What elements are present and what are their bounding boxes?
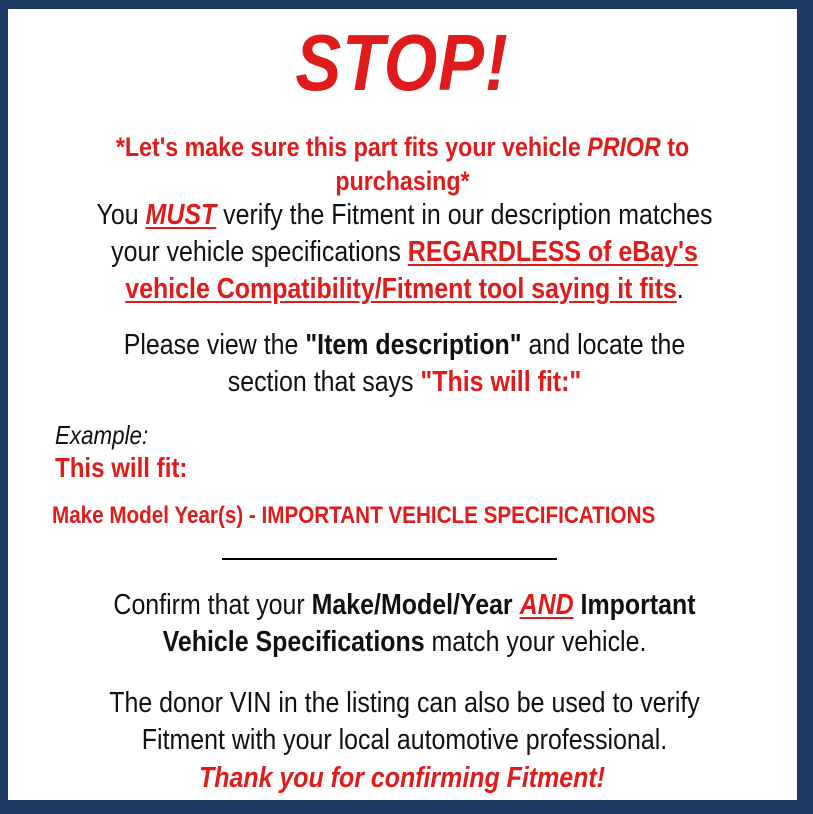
example-block: Example: This will fit: (55, 420, 209, 485)
subtitle-inner: *Let's make sure this part fits your veh… (72, 130, 733, 198)
notice-outer-frame: STOP! *Let's make sure this part fits yo… (0, 0, 813, 814)
donor-vin-text: The donor VIN in the listing can also be… (82, 685, 726, 759)
confirm-seg5: match your vehicle. (425, 626, 647, 658)
notice-content-panel: STOP! *Let's make sure this part fits yo… (8, 9, 797, 800)
thank-you-text: Thank you for confirming Fitment! (200, 760, 606, 796)
must-verify-paragraph: You MUST verify the Fitment in our descr… (30, 197, 779, 308)
confirm-seg1: Confirm that your (113, 589, 311, 621)
must-paragraph-seg1: You (97, 199, 146, 231)
subtitle-line: *Let's make sure this part fits your veh… (18, 130, 787, 198)
example-this-will-fit: This will fit: (55, 451, 187, 485)
and-emphasis: AND (520, 589, 574, 621)
subtitle-before-text: *Let's make sure this part fits your veh… (116, 132, 587, 162)
item-description-inner: Please view the "Item description" and l… (82, 327, 726, 401)
must-emphasis: MUST (146, 199, 217, 231)
example-spec-wrap: Make Model Year(s) - IMPORTANT VEHICLE S… (52, 501, 753, 531)
thank-you-line: Thank you for confirming Fitment! (8, 760, 797, 796)
item-description-emphasis: "Item description" (305, 329, 521, 361)
example-label: Example: (55, 420, 148, 450)
subtitle-prior-emphasis: PRIOR (587, 132, 661, 162)
example-fits-wrap: This will fit: (55, 451, 209, 485)
item-description-paragraph: Please view the "Item description" and l… (30, 327, 779, 401)
stop-headline: STOP! (8, 17, 797, 109)
donor-vin-paragraph: The donor VIN in the listing can also be… (30, 685, 779, 759)
stop-headline-text: STOP! (296, 17, 509, 109)
must-paragraph-period: . (677, 273, 684, 305)
confirm-paragraph: Confirm that your Make/Model/Year AND Im… (30, 587, 779, 661)
must-verify-inner: You MUST verify the Fitment in our descr… (82, 197, 726, 308)
make-model-year-emphasis: Make/Model/Year (312, 589, 513, 621)
view-paragraph-seg1: Please view the (124, 329, 306, 361)
example-spec-line: Make Model Year(s) - IMPORTANT VEHICLE S… (52, 501, 655, 531)
this-will-fit-quote: "This will fit:" (420, 366, 581, 398)
example-label-wrap: Example: (55, 420, 209, 450)
confirm-paragraph-inner: Confirm that your Make/Model/Year AND Im… (82, 587, 726, 661)
section-divider (222, 558, 557, 560)
